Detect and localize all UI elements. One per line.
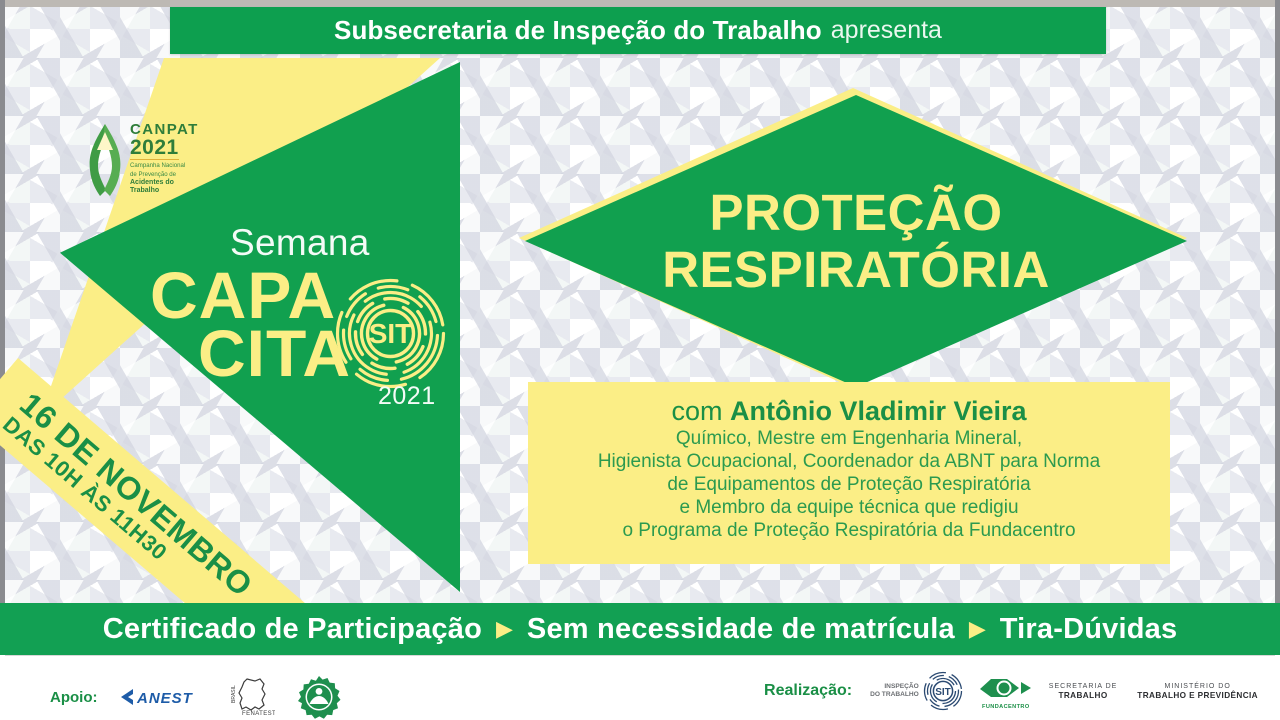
benefit-item-2: Sem necessidade de matrícula xyxy=(527,613,955,646)
speaker-bio-line: de Equipamentos de Proteção Respiratória xyxy=(667,473,1030,496)
fundacentro-icon xyxy=(977,673,1035,703)
ministerio-bold-label: TRABALHO E PREVIDÊNCIA xyxy=(1137,691,1258,701)
top-edge-strip xyxy=(0,0,1280,7)
event-cita-label: CITA xyxy=(198,323,351,383)
canpat-desc-line1: Campanha Nacional xyxy=(130,162,199,169)
sit-fingerprint-footer-icon: SIT xyxy=(923,671,963,711)
awareness-ribbon-icon xyxy=(84,120,126,198)
arrow-right-icon: ▶ xyxy=(496,618,513,640)
speaker-bio-line: e Membro da equipe técnica que redigiu xyxy=(679,496,1018,519)
header-title-light: apresenta xyxy=(831,16,942,45)
canpat-year: 2021 xyxy=(130,137,179,160)
ministerio-top-label: MINISTÉRIO DO xyxy=(1137,682,1258,691)
benefit-item-3: Tira-Dúvidas xyxy=(1000,613,1178,646)
canpat-logo: CANPAT 2021 Campanha Nacional de Prevenç… xyxy=(84,120,204,200)
fundacentro-label: FUNDACENTRO xyxy=(982,704,1030,710)
sit-fingerprint-icon: SIT xyxy=(333,276,448,391)
speaker-name-row: com Antônio Vladimir Vieira xyxy=(671,395,1026,427)
event-year-label: 2021 xyxy=(378,382,436,411)
speaker-info-box: com Antônio Vladimir Vieira Químico, Mes… xyxy=(528,382,1170,564)
sit-footer-mark-label: SIT xyxy=(935,687,951,698)
sit-subtitle: INSPEÇÃO DO TRABALHO xyxy=(870,683,919,699)
speaker-name: Antônio Vladimir Vieira xyxy=(730,396,1027,426)
canpat-name: CANPAT xyxy=(130,122,199,137)
fenatest-logo-icon: BRASIL FENATEST xyxy=(229,676,275,718)
sit-footer-logo: INSPEÇÃO DO TRABALHO SIT xyxy=(870,671,963,711)
fundacentro-logo: FUNDACENTRO xyxy=(977,673,1035,710)
footer-bar: Apoio: ANEST BRASIL FENATEST xyxy=(0,655,1280,720)
apoio-label: Apoio: xyxy=(50,689,97,706)
speaker-bio-line: Higienista Ocupacional, Coordenador da A… xyxy=(598,450,1100,473)
right-edge-border xyxy=(1275,0,1280,660)
secretaria-top-label: SECRETARIA DE xyxy=(1049,682,1118,691)
header-bar: Subsecretaria de Inspeção do Trabalho ap… xyxy=(170,7,1106,54)
gear-logo-icon xyxy=(297,675,341,719)
realizacao-group: Realização: INSPEÇÃO DO TRABALHO SIT xyxy=(764,671,1258,711)
anest-logo-icon: ANEST xyxy=(119,686,207,708)
fenatest-label: FENATEST xyxy=(242,711,275,717)
government-logos: SECRETARIA DE TRABALHO MINISTÉRIO DO TRA… xyxy=(1049,682,1258,701)
arrow-right-icon: ▶ xyxy=(969,618,986,640)
benefit-item-1: Certificado de Participação xyxy=(103,613,482,646)
realizacao-label: Realização: xyxy=(764,682,852,700)
topic-line-1: PROTEÇÃO xyxy=(709,184,1002,241)
sit-mark-label: SIT xyxy=(369,318,413,349)
canpat-desc-line2: de Prevenção de xyxy=(130,171,199,178)
svg-text:ANEST: ANEST xyxy=(136,690,194,707)
left-edge-border xyxy=(0,0,5,660)
secretaria-block: SECRETARIA DE TRABALHO xyxy=(1049,682,1118,701)
canpat-desc-bold2: Trabalho xyxy=(130,187,199,195)
speaker-bio-line: o Programa de Proteção Respiratória da F… xyxy=(622,519,1075,542)
sit-subtitle-line2: DO TRABALHO xyxy=(870,691,919,699)
sit-subtitle-line1: INSPEÇÃO xyxy=(870,683,919,691)
speaker-prefix: com xyxy=(671,396,730,426)
benefits-strip: Certificado de Participação ▶ Sem necess… xyxy=(0,603,1280,655)
topic-line-2: RESPIRATÓRIA xyxy=(662,241,1050,298)
apoio-group: Apoio: ANEST BRASIL FENATEST xyxy=(50,675,341,719)
secretaria-bold-label: TRABALHO xyxy=(1049,691,1118,701)
canpat-text-block: CANPAT 2021 Campanha Nacional de Prevenç… xyxy=(130,120,199,195)
fenatest-brasil-label: BRASIL xyxy=(231,685,237,703)
ministerio-block: MINISTÉRIO DO TRABALHO E PREVIDÊNCIA xyxy=(1137,682,1258,701)
speaker-bio-line: Químico, Mestre em Engenharia Mineral, xyxy=(676,427,1022,450)
header-title-bold: Subsecretaria de Inspeção do Trabalho xyxy=(334,15,822,46)
canpat-desc-bold1: Acidentes do xyxy=(130,179,199,187)
poster-canvas: Subsecretaria de Inspeção do Trabalho ap… xyxy=(0,0,1280,720)
